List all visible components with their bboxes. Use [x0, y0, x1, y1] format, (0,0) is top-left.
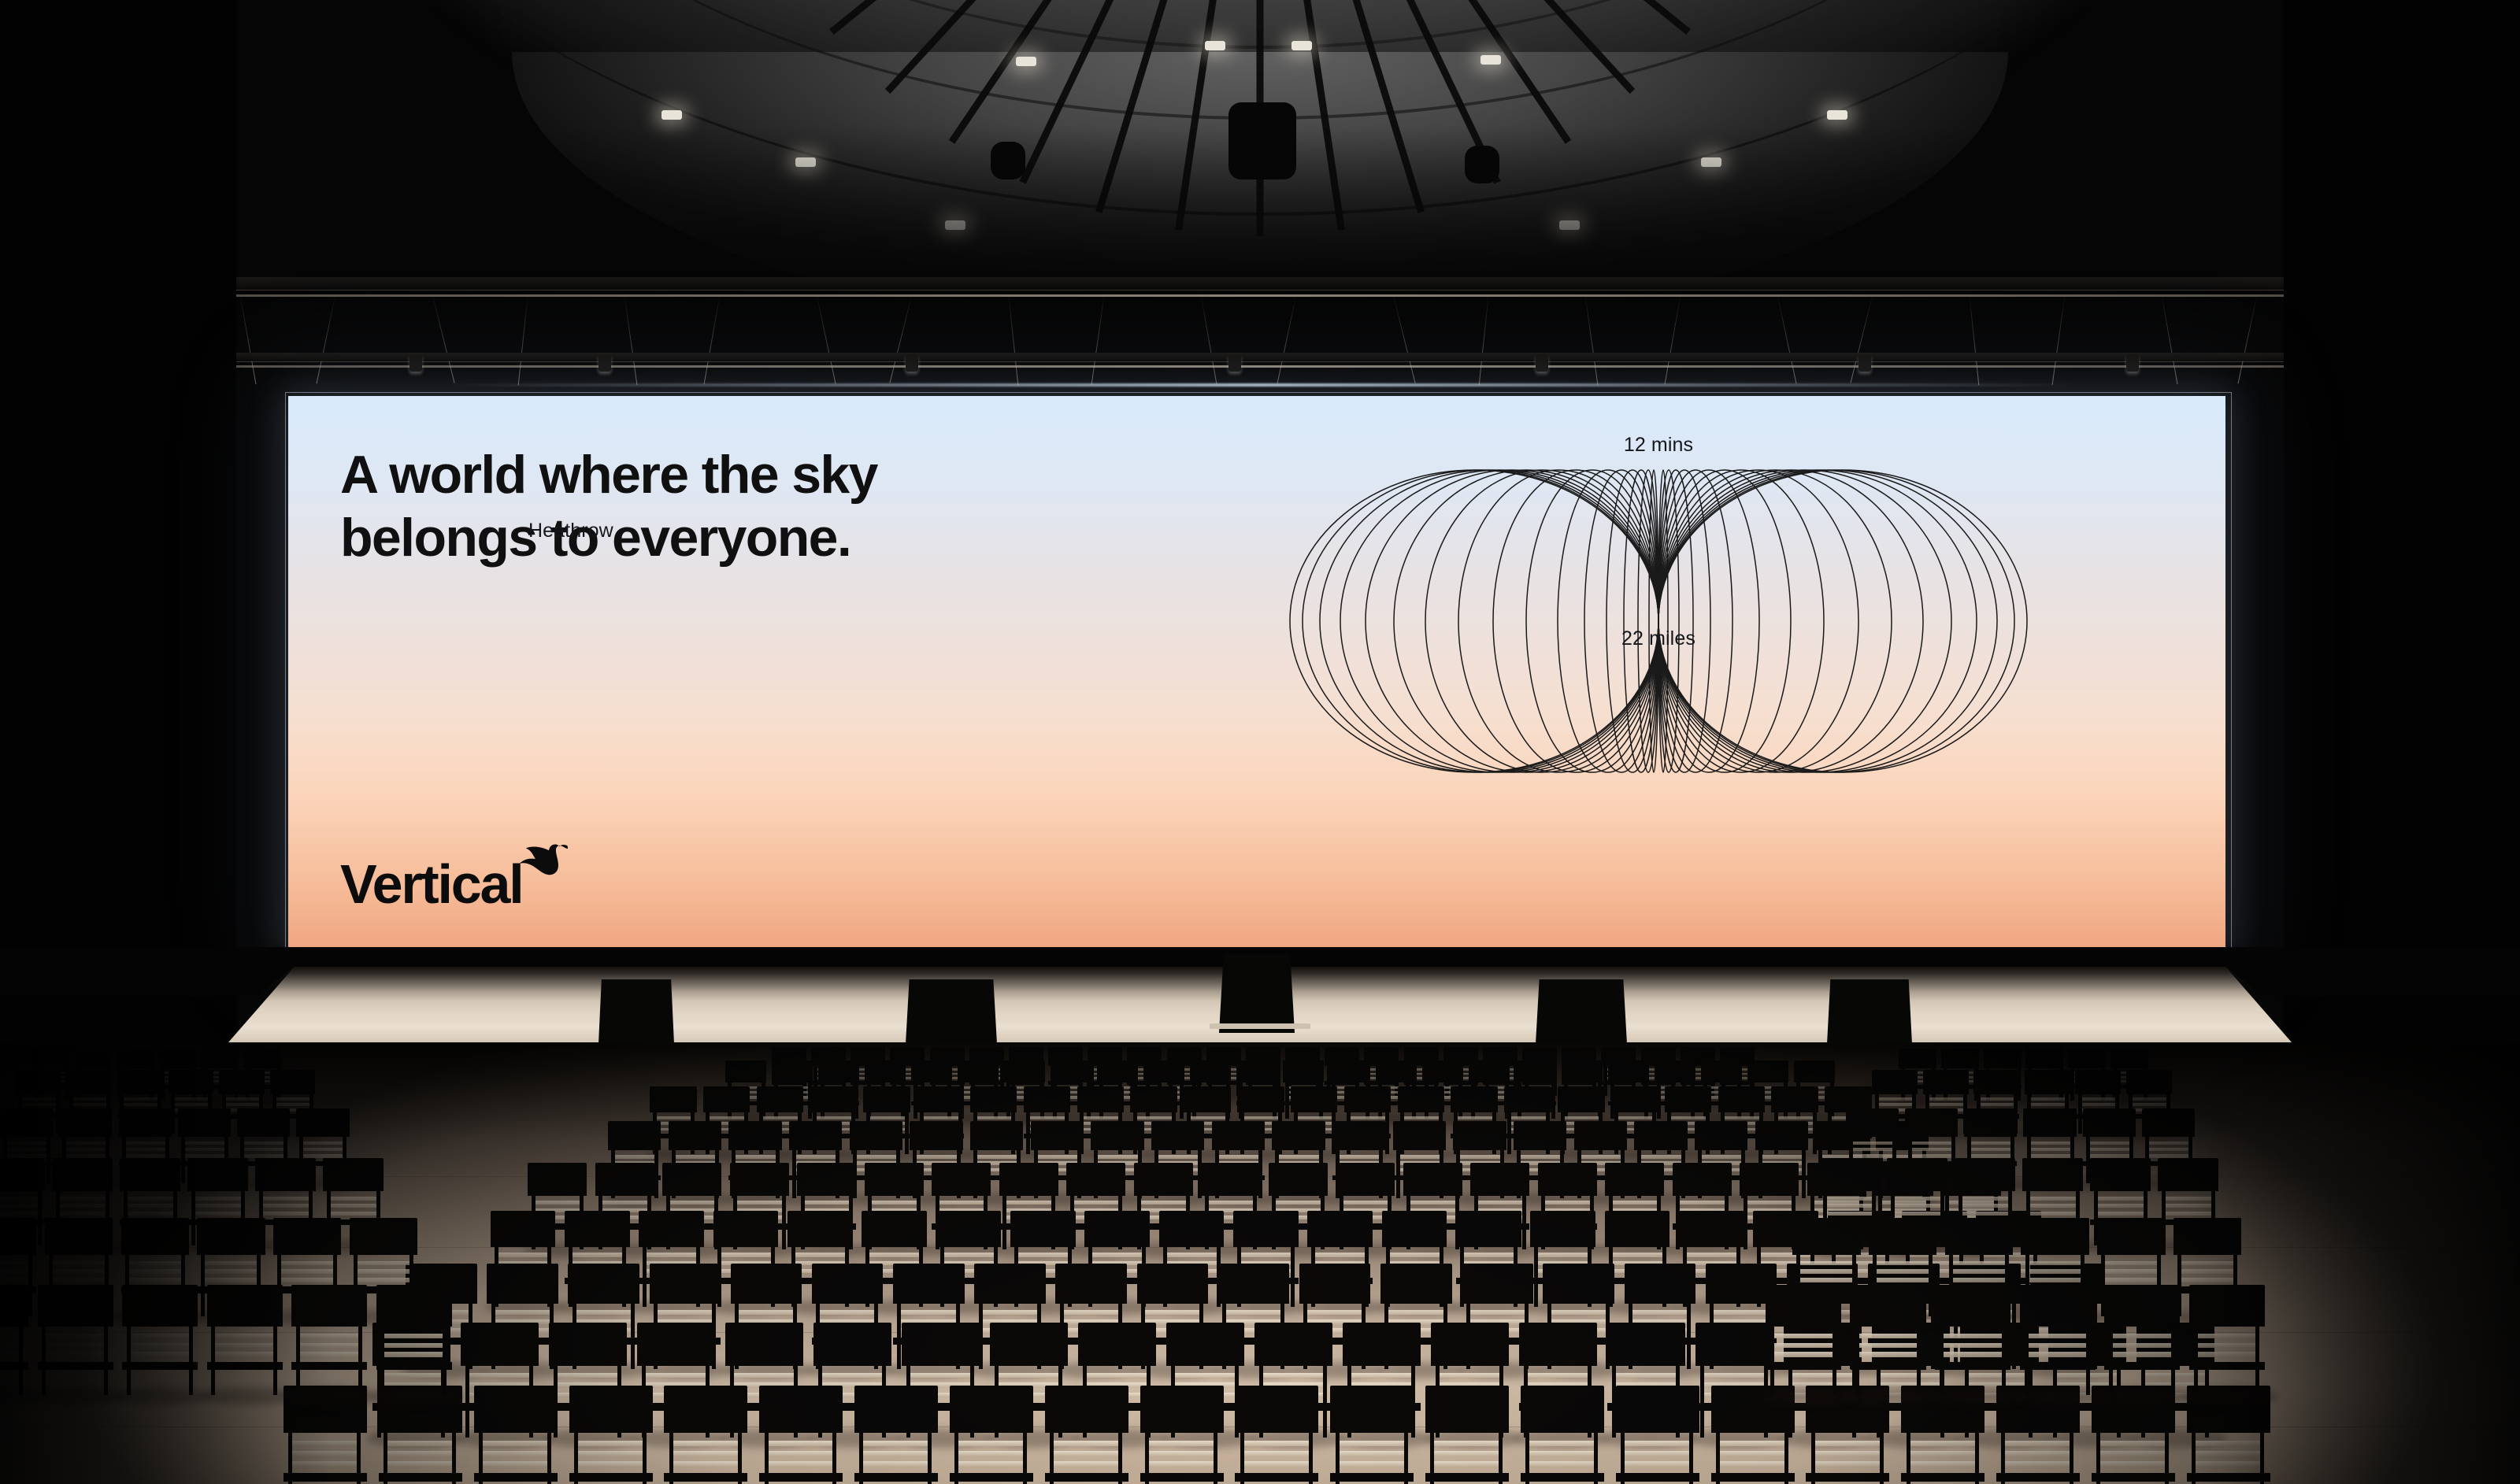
chair-slat: [1157, 1155, 1199, 1158]
chair-backrest: [323, 1158, 384, 1191]
chair-seat: [2092, 1473, 2175, 1482]
chair-slat: [2112, 1334, 2173, 1338]
truss-cable: [2052, 293, 2066, 385]
chair-backrest: [813, 1323, 891, 1366]
chair-backrest: [1625, 1264, 1696, 1304]
chair-backrest: [1794, 1060, 1835, 1082]
chair-slat: [2005, 1451, 2072, 1456]
chair-slat: [1978, 1103, 2014, 1106]
chair-backrest: [950, 1386, 1033, 1433]
chair-slat: [2096, 1197, 2144, 1201]
chair-backrest: [1872, 1070, 1918, 1094]
chair-slat: [1073, 1201, 1120, 1205]
chair-slat: [1703, 1373, 1766, 1379]
chair-slat: [183, 1148, 226, 1151]
ceiling-rib: [1095, 0, 1263, 213]
chair-slat: [204, 1261, 258, 1266]
chair-slat: [868, 1116, 906, 1119]
chair-slat: [1188, 1116, 1226, 1119]
chair-slat: [1678, 1201, 1725, 1205]
truss-cable: [239, 293, 256, 384]
chair-backrest: [1538, 1163, 1597, 1196]
chair-leg: [1802, 1147, 1806, 1198]
chair-backrest: [1143, 1060, 1184, 1082]
chair-backrest: [2090, 1158, 2151, 1191]
chair-slat: [958, 1451, 1025, 1456]
chair-backrest: [1504, 1086, 1551, 1112]
chair-slat: [1858, 1343, 1919, 1348]
ceiling-rib: [1257, 0, 1264, 236]
chair-slat: [384, 1343, 444, 1348]
chair-slat: [292, 1451, 359, 1456]
chair-slat: [1713, 1310, 1770, 1315]
chair-backrest: [1134, 1163, 1193, 1196]
chair-backrest: [789, 1121, 842, 1150]
chair-slat: [6, 1154, 48, 1157]
ceiling-vent: [991, 142, 1025, 179]
chair-slat: [126, 1197, 174, 1201]
auditorium-chair: [376, 1285, 452, 1395]
chair-slat: [2104, 1269, 2159, 1274]
auditorium-chair: [664, 1386, 747, 1484]
auditorium-chair: [2189, 1285, 2265, 1395]
chair-backrest: [201, 1049, 239, 1068]
chair-slat: [708, 1116, 746, 1119]
chair-slat: [0, 1343, 20, 1348]
chair-slat: [2088, 1154, 2130, 1157]
chair-leg: [782, 1192, 786, 1249]
chair-backrest: [2021, 1218, 2088, 1256]
chair-slat: [243, 1148, 285, 1151]
chair-slat: [2148, 1148, 2190, 1151]
chair-slat: [1851, 1154, 1893, 1157]
truss-light-fixture: [1228, 354, 1241, 372]
chair-slat: [1439, 1373, 1501, 1379]
chair-slat: [2029, 1142, 2071, 1145]
chair-slat: [1776, 1116, 1814, 1119]
chair-backrest: [487, 1264, 558, 1304]
chair-slat: [0, 1212, 39, 1216]
chair-leg: [654, 1147, 658, 1198]
chair-slat: [1274, 1201, 1321, 1205]
chair-slat: [0, 1352, 20, 1356]
chair-leg: [380, 1323, 384, 1395]
chair-slat: [2195, 1441, 2262, 1446]
truss-light-fixture: [906, 354, 918, 372]
chair-backrest: [1380, 1264, 1452, 1304]
stage-lectern-riser: [1219, 954, 1295, 1033]
chair-slat: [6, 1148, 48, 1151]
chair-slat: [482, 1451, 549, 1456]
auditorium-chair: [207, 1285, 283, 1395]
chair-backrest: [664, 1386, 747, 1433]
chair-backrest: [350, 1218, 417, 1256]
chair-seat: [38, 1362, 113, 1370]
ceiling-rib: [1020, 0, 1263, 184]
chair-backrest: [810, 1086, 857, 1112]
chair-backrest: [1607, 1323, 1684, 1366]
chair-slat: [768, 1451, 835, 1456]
chair-backrest: [158, 1049, 196, 1068]
truss-rail-1: [0, 294, 2520, 297]
chair-backrest: [1462, 1264, 1533, 1304]
chair-slat: [2029, 1097, 2066, 1101]
chair-slat: [45, 1334, 106, 1338]
chair-backrest: [1451, 1086, 1498, 1112]
chair-leg: [1784, 1428, 1788, 1484]
chair-backrest: [1166, 1323, 1243, 1366]
ceiling-downlight: [1701, 157, 1721, 167]
chair-backrest: [2022, 1158, 2083, 1191]
chair-seat: [1140, 1473, 1224, 1482]
chair-seat: [291, 1362, 367, 1370]
chair-slat: [1928, 1103, 1964, 1106]
truss-light-fixture: [598, 354, 611, 372]
chair-slat: [2195, 1461, 2262, 1467]
chair-slat: [1349, 1116, 1387, 1119]
chair-slat: [1240, 1253, 1291, 1256]
chair-leg: [1385, 1109, 1389, 1154]
chair-slat: [1537, 1253, 1589, 1256]
chair-backrest: [2110, 1049, 2148, 1068]
chair-slat: [122, 1103, 158, 1106]
chair-slat: [577, 1451, 644, 1456]
chair-slat: [2197, 1334, 2258, 1338]
chair-backrest: [2023, 1108, 2076, 1137]
chair-slat: [768, 1461, 835, 1467]
chair-backrest: [1235, 1386, 1318, 1433]
chair-slat: [863, 1461, 930, 1467]
chair-leg: [1880, 1428, 1884, 1484]
chair-slat: [2028, 1261, 2082, 1266]
chair-slat: [124, 1148, 166, 1151]
chair-slat: [1893, 1212, 1941, 1216]
chair-leg: [669, 1428, 673, 1484]
chair-slat: [2080, 1097, 2116, 1101]
chair-backrest: [1236, 1060, 1277, 1082]
chair-slat: [1398, 1155, 1440, 1158]
chair-backrest: [1272, 1121, 1325, 1150]
chair-slat: [128, 1261, 182, 1266]
chair-leg: [1716, 1428, 1720, 1484]
chair-slat: [1825, 1212, 1873, 1216]
chair-seat: [1711, 1473, 1795, 1482]
chair-slat: [58, 1204, 106, 1208]
chair-slat: [981, 1310, 1038, 1315]
chair-leg: [1522, 1192, 1526, 1249]
chair-backrest: [1605, 1163, 1664, 1196]
chair-slat: [1611, 1253, 1663, 1256]
chair-leg: [38, 1188, 42, 1245]
chair-slat: [1825, 1197, 1873, 1201]
chair-backrest: [728, 1121, 781, 1150]
chair-slat: [1082, 1116, 1120, 1119]
chair-slat: [1434, 1441, 1501, 1446]
chair-backrest: [491, 1211, 556, 1247]
chair-leg: [1336, 1428, 1340, 1484]
chair-slat: [2029, 1148, 2071, 1151]
chair-slat: [469, 1373, 531, 1379]
chair-backrest: [1695, 1323, 1773, 1366]
chair-slat: [261, 1197, 309, 1201]
chair-backrest: [59, 1108, 112, 1137]
chair-backrest: [1655, 1060, 1695, 1082]
chair-slat: [243, 1142, 285, 1145]
chair-slat: [126, 1204, 174, 1208]
chair-backrest: [1422, 1060, 1463, 1082]
chair-slat: [1910, 1142, 1953, 1145]
chair-slat: [172, 1097, 209, 1101]
truss-cable: [1479, 293, 1489, 385]
chair-slat: [2005, 1461, 2072, 1467]
chair-slat: [1135, 1116, 1173, 1119]
chair-slat: [2028, 1352, 2088, 1356]
chair-slat: [172, 1103, 209, 1106]
chair-slat: [854, 1155, 897, 1158]
chair-slat: [613, 1155, 656, 1158]
chair-slat: [1943, 1352, 2003, 1356]
chair-backrest: [1091, 1121, 1143, 1150]
chair-slat: [577, 1441, 644, 1446]
chair-slat: [387, 1461, 454, 1467]
chair-backrest: [865, 1060, 906, 1082]
chair-backrest: [863, 1086, 910, 1112]
chair-backrest: [1190, 1060, 1231, 1082]
chair-leg: [384, 1428, 387, 1484]
chair-backrest: [1718, 1086, 1766, 1112]
chair-slat: [1225, 1310, 1282, 1315]
chair-leg: [1907, 1428, 1910, 1484]
chair-slat: [646, 1253, 698, 1256]
auditorium-chair: [1045, 1386, 1128, 1484]
route-ellipse: [1366, 470, 1658, 772]
chair-slat: [1685, 1253, 1737, 1256]
chair-leg: [1291, 1243, 1295, 1307]
chair-slat: [224, 1097, 260, 1101]
chair-backrest: [0, 1158, 45, 1191]
chair-backrest: [528, 1163, 587, 1196]
chair-backrest: [38, 1285, 113, 1327]
chair-backrest: [893, 1264, 965, 1304]
chair-seat: [1996, 1473, 2080, 1482]
chair-backrest: [1140, 1386, 1224, 1433]
chair-seat: [759, 1473, 843, 1482]
chair-slat: [2005, 1441, 2072, 1446]
logo-wordmark: Vertical: [340, 859, 522, 909]
chair-slat: [204, 1269, 258, 1274]
chair-slat: [2112, 1343, 2173, 1348]
chair-slat: [1877, 1097, 1913, 1101]
chair-slat: [482, 1461, 549, 1467]
chair-slat: [1814, 1451, 1881, 1456]
truss-light-fixture: [2126, 354, 2139, 372]
chair-leg: [46, 1134, 50, 1183]
ceiling-rib: [1257, 0, 1500, 184]
chair-leg: [1240, 1428, 1244, 1484]
chair-backrest: [970, 1086, 1017, 1112]
chair-slat: [224, 1103, 260, 1106]
chair-leg: [127, 1323, 131, 1395]
chair-slat: [1893, 1197, 1941, 1201]
chair-slat: [998, 1373, 1060, 1379]
chair-leg: [1499, 1428, 1503, 1484]
chair-seat: [283, 1473, 367, 1482]
chair-backrest: [637, 1323, 714, 1366]
chair-slat: [938, 1201, 985, 1205]
chair-slat: [575, 1310, 632, 1315]
chair-backrest: [1343, 1323, 1420, 1366]
truss-cable: [2161, 293, 2177, 384]
chair-slat: [2096, 1204, 2144, 1208]
chair-leg: [1770, 1323, 1774, 1395]
chair-backrest: [1159, 1211, 1225, 1247]
route-ellipse: [1658, 470, 2027, 772]
chair-leg: [2086, 1323, 2090, 1395]
route-distance-label: 22 miles: [1621, 627, 1695, 650]
chair-leg: [1833, 1323, 1836, 1395]
chair-leg: [104, 1323, 108, 1395]
chair-slat: [299, 1334, 360, 1338]
chair-slat: [65, 1154, 107, 1157]
chair-slat: [1096, 1155, 1139, 1158]
chair-backrest: [117, 1049, 154, 1068]
chair-seat: [1235, 1473, 1318, 1482]
chair-slat: [1773, 1352, 1834, 1356]
chair-backrest: [120, 1158, 180, 1191]
truss-rail-2: [0, 365, 2520, 368]
chair-slat: [1017, 1253, 1069, 1256]
chair-slat: [1700, 1155, 1743, 1158]
chair-backrest: [1332, 1121, 1385, 1150]
chair-leg: [1621, 1428, 1625, 1484]
chair-slat: [1624, 1441, 1691, 1446]
chair-backrest: [2075, 1070, 2121, 1094]
chair-leg: [954, 1428, 958, 1484]
chair-slat: [2164, 1204, 2212, 1208]
chair-slat: [814, 1116, 852, 1119]
auditorium-floor: [0, 1044, 2520, 1484]
chair-slat: [1339, 1461, 1406, 1467]
chair-backrest: [1519, 1323, 1596, 1366]
chair-slat: [1876, 1261, 1930, 1266]
chair-backrest: [1935, 1285, 2010, 1327]
chair-backrest: [1004, 1060, 1045, 1082]
chair-backrest: [669, 1121, 721, 1150]
chair-slat: [1543, 1201, 1591, 1205]
chair-backrest: [376, 1285, 452, 1327]
chair-slat: [803, 1201, 850, 1205]
chair-backrest: [1543, 1264, 1614, 1304]
chair-backrest: [1887, 1158, 1947, 1191]
chair-backrest: [45, 1218, 113, 1256]
chair-slat: [1746, 1201, 1793, 1205]
stage-cutout: [598, 979, 674, 1044]
auditorium-chair: [2020, 1285, 2096, 1395]
chair-slat: [2028, 1343, 2088, 1348]
chair-backrest: [67, 1070, 113, 1094]
chair-backrest: [1701, 1060, 1742, 1082]
rig-glow-strip: [441, 383, 2079, 387]
chair-slat: [497, 1253, 549, 1256]
chair-backrest: [1558, 1086, 1605, 1112]
chair-backrest: [1233, 1211, 1299, 1247]
chair-backrest: [1755, 1121, 1808, 1150]
chair-leg: [832, 1428, 836, 1484]
chair-backrest: [2020, 1285, 2096, 1327]
chair-leg: [1594, 1428, 1598, 1484]
chair-leg: [1023, 1428, 1027, 1484]
chair-slat: [20, 1097, 57, 1101]
chair-backrest: [1611, 1086, 1658, 1112]
chair-leg: [42, 1323, 46, 1395]
dome-shell: [283, 0, 2236, 268]
chair-slat: [1262, 1373, 1325, 1379]
chair-backrest: [725, 1060, 766, 1082]
chair-slat: [1086, 1373, 1148, 1379]
chair-backrest: [1905, 1108, 1958, 1137]
chair-backrest: [759, 1386, 843, 1433]
ceiling-rib: [1258, 0, 1636, 94]
chair-slat: [1877, 1103, 1913, 1106]
chair-slat: [1943, 1334, 2003, 1338]
chair-backrest: [1031, 1121, 1084, 1150]
chair-leg: [2165, 1428, 2169, 1484]
chair-backrest: [1212, 1121, 1265, 1150]
chair-backrest: [713, 1211, 779, 1247]
chair-slat: [673, 1461, 739, 1467]
hall-right-shadow: [2284, 0, 2520, 1102]
chair-seat: [569, 1473, 653, 1482]
chair-backrest: [757, 1086, 804, 1112]
chair-seat: [854, 1473, 938, 1482]
chair-leg: [1323, 1361, 1327, 1437]
chair-slat: [0, 1269, 30, 1274]
auditorium-chair: [1425, 1386, 1509, 1484]
chair-slat: [975, 1116, 1013, 1119]
chair-slat: [2197, 1343, 2258, 1348]
chair-leg: [296, 1323, 300, 1395]
chair-backrest: [1521, 1386, 1604, 1433]
chair-seat: [1330, 1473, 1414, 1482]
chair-slat: [1242, 1116, 1280, 1119]
auditorium-chair: [1330, 1386, 1414, 1484]
chair-backrest: [1299, 1264, 1371, 1304]
chair-leg: [2192, 1428, 2196, 1484]
chair-leg: [2109, 1323, 2113, 1395]
chair-leg: [181, 1134, 185, 1183]
chair-slat: [1036, 1155, 1078, 1158]
chair-slat: [194, 1212, 242, 1216]
chair-leg: [1811, 1428, 1815, 1484]
chair-backrest: [850, 1121, 902, 1150]
chair-slat: [1943, 1343, 2003, 1348]
chair-slat: [1144, 1310, 1201, 1315]
chair-backrest: [1329, 1060, 1370, 1082]
chair-slat: [0, 1204, 39, 1208]
truss-light-fixture: [1858, 354, 1871, 372]
chair-slat: [1825, 1204, 1873, 1208]
chair-backrest: [1237, 1086, 1284, 1112]
chair-leg: [2025, 1323, 2029, 1395]
chair-backrest: [910, 1121, 962, 1150]
chair-slat: [122, 1097, 158, 1101]
chair-backrest: [1398, 1086, 1445, 1112]
chair-slat: [669, 1201, 716, 1205]
chair-slat: [1409, 1201, 1456, 1205]
truss-cable: [1008, 293, 1018, 385]
auditorium-chair: [474, 1386, 558, 1484]
truss-bar-upper: [0, 277, 2520, 290]
